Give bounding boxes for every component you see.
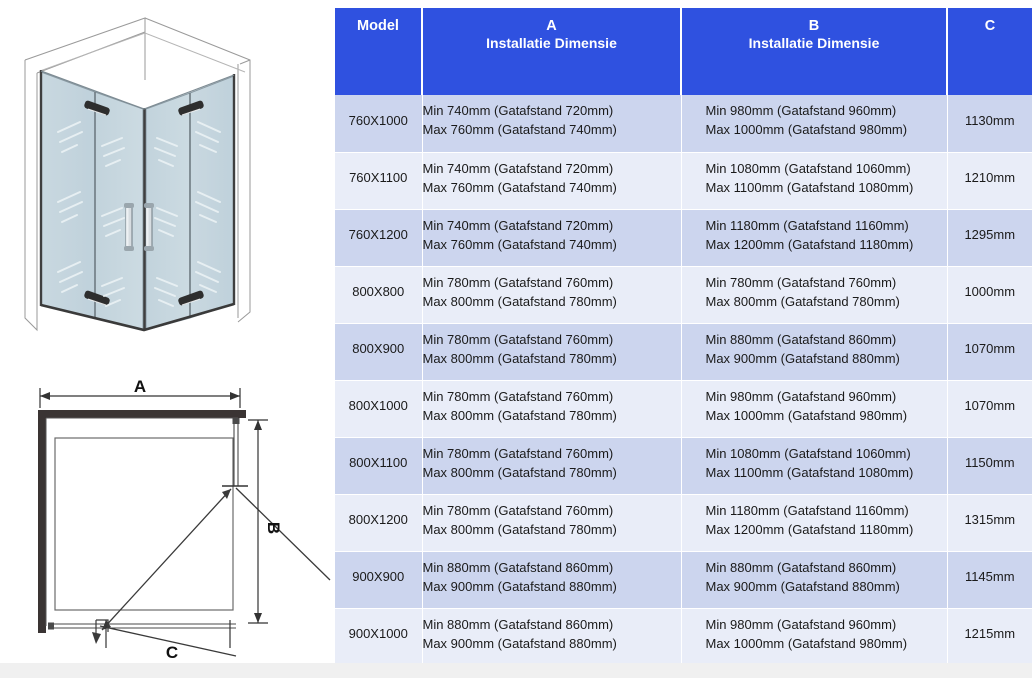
table-row: 800X800Min 780mm (Gatafstand 760mm)Max 8… — [335, 266, 1032, 323]
dimension-a-max: Max 900mm (Gatafstand 880mm) — [423, 578, 681, 597]
dimension-b-max: Max 1100mm (Gatafstand 1080mm) — [706, 464, 947, 483]
dimension-a-min: Min 780mm (Gatafstand 760mm) — [423, 388, 681, 407]
cell-dimension-c: 1315mm — [947, 494, 1032, 551]
cell-model: 800X1000 — [335, 380, 422, 437]
fixed-panel-right — [233, 418, 240, 486]
cell-model: 760X1100 — [335, 152, 422, 209]
shower-enclosure-floor-plan-icon: A — [0, 368, 332, 678]
table-row: 760X1000Min 740mm (Gatafstand 720mm)Max … — [335, 95, 1032, 152]
cell-dimension-b: Min 980mm (Gatafstand 960mm)Max 1000mm (… — [681, 380, 947, 437]
iso-diagram-panel — [0, 0, 332, 368]
cell-dimension-a: Min 740mm (Gatafstand 720mm)Max 760mm (G… — [422, 209, 681, 266]
wall-shape — [38, 410, 246, 633]
dimension-b-max: Max 1000mm (Gatafstand 980mm) — [706, 635, 947, 654]
cell-dimension-c: 1070mm — [947, 323, 1032, 380]
corner-shower-enclosure-3d-icon — [0, 0, 332, 368]
dimension-b-max: Max 1200mm (Gatafstand 1180mm) — [706, 521, 947, 540]
page-bottom-strip — [0, 663, 1032, 678]
dimension-b-min: Min 1080mm (Gatafstand 1060mm) — [706, 160, 947, 179]
dimension-a-max: Max 800mm (Gatafstand 780mm) — [423, 407, 681, 426]
door-swing-indicator — [100, 488, 330, 656]
dimension-b-min: Min 1180mm (Gatafstand 1160mm) — [706, 217, 947, 236]
cell-model: 760X1200 — [335, 209, 422, 266]
dimension-b-min: Min 1180mm (Gatafstand 1160mm) — [706, 502, 947, 521]
dimension-a-min: Min 740mm (Gatafstand 720mm) — [423, 217, 681, 236]
table-row: 800X1000Min 780mm (Gatafstand 760mm)Max … — [335, 380, 1032, 437]
column-header-a: A Installatie Dimensie — [422, 8, 681, 95]
table-row: 900X1000Min 880mm (Gatafstand 860mm)Max … — [335, 608, 1032, 665]
column-header-b-sublabel: Installatie Dimensie — [683, 35, 945, 53]
cell-dimension-c: 1145mm — [947, 551, 1032, 608]
dimension-a-max: Max 760mm (Gatafstand 740mm) — [423, 121, 681, 140]
column-header-c-label: C — [985, 18, 995, 34]
table-header-row: Model A Installatie Dimensie B Installat… — [335, 8, 1032, 95]
cell-dimension-b: Min 780mm (Gatafstand 760mm)Max 800mm (G… — [681, 266, 947, 323]
cell-dimension-c: 1215mm — [947, 608, 1032, 665]
cell-model: 900X900 — [335, 551, 422, 608]
cell-dimension-c: 1000mm — [947, 266, 1032, 323]
dimension-b-min: Min 980mm (Gatafstand 960mm) — [706, 388, 947, 407]
table-row: 760X1200Min 740mm (Gatafstand 720mm)Max … — [335, 209, 1032, 266]
installation-dimensions-table: Model A Installatie Dimensie B Installat… — [335, 8, 1032, 666]
cell-dimension-c: 1130mm — [947, 95, 1032, 152]
table-body: 760X1000Min 740mm (Gatafstand 720mm)Max … — [335, 95, 1032, 665]
cell-dimension-c: 1295mm — [947, 209, 1032, 266]
column-header-b: B Installatie Dimensie — [681, 8, 947, 95]
cell-dimension-a: Min 880mm (Gatafstand 860mm)Max 900mm (G… — [422, 608, 681, 665]
dimension-a-min: Min 740mm (Gatafstand 720mm) — [423, 102, 681, 121]
dimension-b-max: Max 1200mm (Gatafstand 1180mm) — [706, 236, 947, 255]
dimension-b-max: Max 800mm (Gatafstand 780mm) — [706, 293, 947, 312]
column-header-a-label: A — [546, 18, 556, 34]
plan-label-a: A — [134, 377, 146, 396]
plan-label-b: B — [264, 522, 283, 534]
cell-dimension-a: Min 740mm (Gatafstand 720mm)Max 760mm (G… — [422, 152, 681, 209]
table-row: 760X1100Min 740mm (Gatafstand 720mm)Max … — [335, 152, 1032, 209]
table-row: 800X1200Min 780mm (Gatafstand 760mm)Max … — [335, 494, 1032, 551]
cell-dimension-b: Min 980mm (Gatafstand 960mm)Max 1000mm (… — [681, 95, 947, 152]
cell-dimension-b: Min 980mm (Gatafstand 960mm)Max 1000mm (… — [681, 608, 947, 665]
plan-diagram-panel: A — [0, 368, 332, 678]
diagram-column: A — [0, 0, 332, 678]
dimension-a-min: Min 880mm (Gatafstand 860mm) — [423, 616, 681, 635]
dimension-a-max: Max 800mm (Gatafstand 780mm) — [423, 521, 681, 540]
cell-dimension-a: Min 740mm (Gatafstand 720mm)Max 760mm (G… — [422, 95, 681, 152]
dimension-a-max: Max 800mm (Gatafstand 780mm) — [423, 464, 681, 483]
cell-dimension-c: 1070mm — [947, 380, 1032, 437]
dimension-b-max: Max 1000mm (Gatafstand 980mm) — [706, 407, 947, 426]
spec-table-container: Model A Installatie Dimensie B Installat… — [335, 8, 1032, 672]
dimension-b-min: Min 880mm (Gatafstand 860mm) — [706, 331, 947, 350]
column-header-c: C — [947, 8, 1032, 95]
dimension-b-max: Max 1000mm (Gatafstand 980mm) — [706, 121, 947, 140]
cell-dimension-b: Min 880mm (Gatafstand 860mm)Max 900mm (G… — [681, 323, 947, 380]
cell-dimension-b: Min 1080mm (Gatafstand 1060mm)Max 1100mm… — [681, 152, 947, 209]
column-header-model-label: Model — [357, 18, 399, 34]
cell-model: 800X800 — [335, 266, 422, 323]
cell-dimension-a: Min 780mm (Gatafstand 760mm)Max 800mm (G… — [422, 380, 681, 437]
page-root: A — [0, 0, 1032, 678]
dimension-b-max: Max 900mm (Gatafstand 880mm) — [706, 578, 947, 597]
cell-dimension-b: Min 880mm (Gatafstand 860mm)Max 900mm (G… — [681, 551, 947, 608]
fixed-panel-bottom — [48, 623, 236, 630]
table-header: Model A Installatie Dimensie B Installat… — [335, 8, 1032, 95]
column-header-a-sublabel: Installatie Dimensie — [424, 35, 679, 53]
dimension-a-min: Min 740mm (Gatafstand 720mm) — [423, 160, 681, 179]
cell-dimension-c: 1150mm — [947, 437, 1032, 494]
table-row: 800X900Min 780mm (Gatafstand 760mm)Max 8… — [335, 323, 1032, 380]
dimension-b-min: Min 880mm (Gatafstand 860mm) — [706, 559, 947, 578]
table-row: 900X900Min 880mm (Gatafstand 860mm)Max 9… — [335, 551, 1032, 608]
dimension-b-max: Max 1100mm (Gatafstand 1080mm) — [706, 179, 947, 198]
dimension-a-min: Min 780mm (Gatafstand 760mm) — [423, 274, 681, 293]
cell-model: 800X1200 — [335, 494, 422, 551]
column-header-model: Model — [335, 8, 422, 95]
cell-dimension-a: Min 780mm (Gatafstand 760mm)Max 800mm (G… — [422, 323, 681, 380]
dimension-b-min: Min 780mm (Gatafstand 760mm) — [706, 274, 947, 293]
cell-model: 760X1000 — [335, 95, 422, 152]
cell-dimension-a: Min 880mm (Gatafstand 860mm)Max 900mm (G… — [422, 551, 681, 608]
dimension-a-max: Max 760mm (Gatafstand 740mm) — [423, 236, 681, 255]
cell-model: 900X1000 — [335, 608, 422, 665]
dimension-a-min: Min 780mm (Gatafstand 760mm) — [423, 502, 681, 521]
plan-label-c: C — [166, 643, 178, 662]
dimension-a-min: Min 780mm (Gatafstand 760mm) — [423, 445, 681, 464]
cell-dimension-c: 1210mm — [947, 152, 1032, 209]
dimension-b-min: Min 1080mm (Gatafstand 1060mm) — [706, 445, 947, 464]
dimension-b-max: Max 900mm (Gatafstand 880mm) — [706, 350, 947, 369]
dimension-a-min: Min 880mm (Gatafstand 860mm) — [423, 559, 681, 578]
cell-dimension-b: Min 1080mm (Gatafstand 1060mm)Max 1100mm… — [681, 437, 947, 494]
cell-dimension-b: Min 1180mm (Gatafstand 1160mm)Max 1200mm… — [681, 209, 947, 266]
dimension-a-max: Max 800mm (Gatafstand 780mm) — [423, 293, 681, 312]
cell-dimension-a: Min 780mm (Gatafstand 760mm)Max 800mm (G… — [422, 494, 681, 551]
cell-model: 800X900 — [335, 323, 422, 380]
cell-model: 800X1100 — [335, 437, 422, 494]
cell-dimension-b: Min 1180mm (Gatafstand 1160mm)Max 1200mm… — [681, 494, 947, 551]
dimension-a-max: Max 800mm (Gatafstand 780mm) — [423, 350, 681, 369]
dimension-a-max: Max 760mm (Gatafstand 740mm) — [423, 179, 681, 198]
dimension-a-max: Max 900mm (Gatafstand 880mm) — [423, 635, 681, 654]
dimension-b-min: Min 980mm (Gatafstand 960mm) — [706, 616, 947, 635]
dimension-a-min: Min 780mm (Gatafstand 760mm) — [423, 331, 681, 350]
dimension-b-min: Min 980mm (Gatafstand 960mm) — [706, 102, 947, 121]
column-header-b-label: B — [809, 18, 819, 34]
cell-dimension-a: Min 780mm (Gatafstand 760mm)Max 800mm (G… — [422, 437, 681, 494]
table-row: 800X1100Min 780mm (Gatafstand 760mm)Max … — [335, 437, 1032, 494]
cell-dimension-a: Min 780mm (Gatafstand 760mm)Max 800mm (G… — [422, 266, 681, 323]
